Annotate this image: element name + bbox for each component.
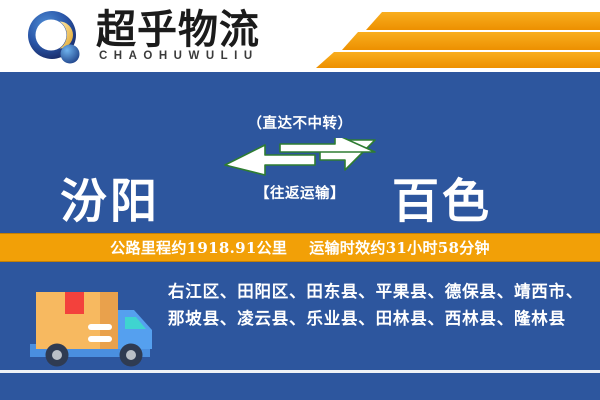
direct-shipping-label: （直达不中转） <box>218 112 382 133</box>
logistics-route-banner: 超乎物流 CHAOHUWULIU 汾阳 （直达不中转） <box>0 0 600 400</box>
brand-name-cn: 超乎物流 <box>96 8 260 52</box>
route-info-bar: 公路里程约1918.91公里 运输时效约31小时58分钟 <box>0 233 600 262</box>
duration-text: 运输时效约31小时58分钟 <box>309 237 490 258</box>
coverage-row: 右江区、田阳区、田东县、平果县、德保县、靖西市、 <box>168 278 584 305</box>
origin-city: 汾阳 <box>60 163 160 232</box>
distance-text: 公路里程约1918.91公里 <box>110 237 287 258</box>
orange-diagonal-stripes-icon <box>270 4 600 68</box>
delivery-truck-icon <box>22 276 158 370</box>
roundtrip-label: 【往返运输】 <box>218 182 382 203</box>
destination-city: 百色 <box>392 163 492 232</box>
brand-name-en: CHAOHUWULIU <box>99 50 259 62</box>
coverage-section: 右江区、田阳区、田东县、平果县、德保县、靖西市、 那坡县、凌云县、乐业县、田林县… <box>0 262 600 400</box>
coverage-region-list: 右江区、田阳区、田东县、平果县、德保县、靖西市、 那坡县、凌云县、乐业县、田林县… <box>168 278 584 332</box>
route-middle: （直达不中转） 【往返运输】 <box>218 112 382 203</box>
banner-header: 超乎物流 CHAOHUWULIU <box>0 0 600 72</box>
circle-q-logo-icon <box>26 9 84 67</box>
route-band: 汾阳 （直达不中转） 【往返运输】 百色 <box>0 72 600 233</box>
bidirectional-arrow-icon <box>220 138 380 178</box>
coverage-row: 那坡县、凌云县、乐业县、田林县、西林县、隆林县 <box>168 305 584 332</box>
footer-divider <box>0 370 600 373</box>
